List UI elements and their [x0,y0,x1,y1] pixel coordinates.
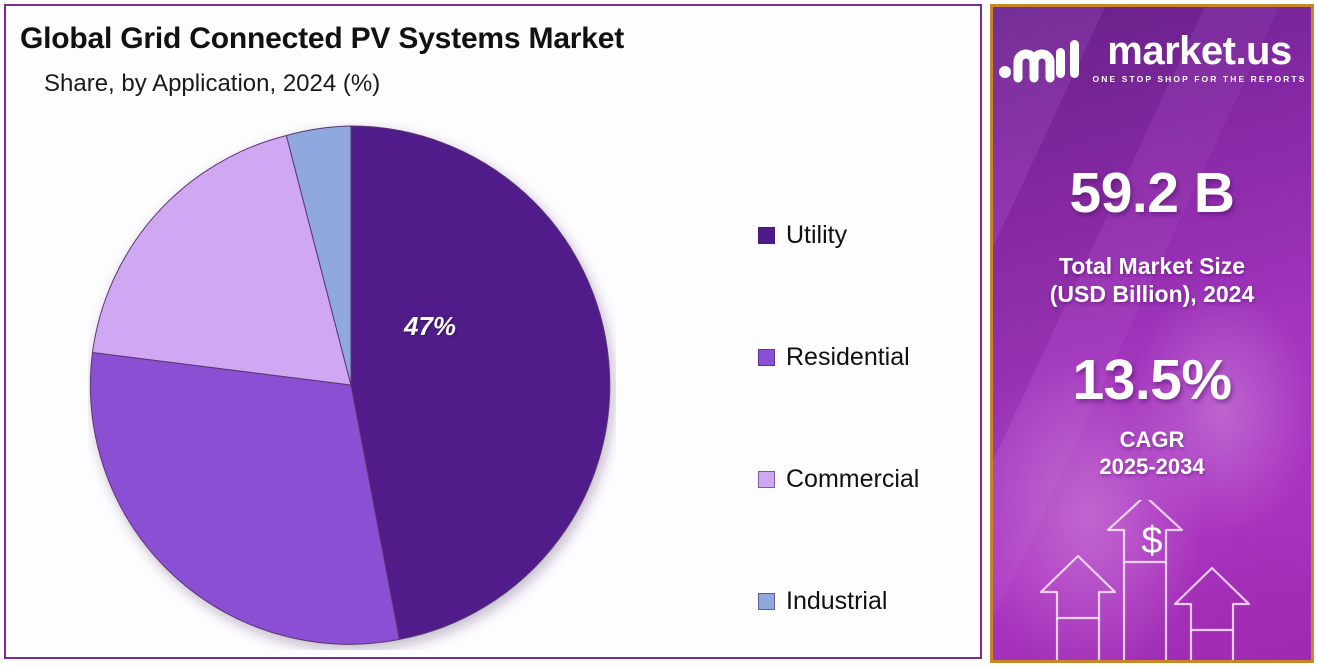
chart-legend: Utility Residential Commercial Industria… [758,174,968,662]
pie-slices-group [90,126,609,644]
legend-swatch-commercial [758,471,775,488]
chart-infographic-page: Global Grid Connected PV Systems Market … [0,0,1318,667]
logo-tagline: ONE STOP SHOP FOR THE REPORTS [1093,74,1307,84]
legend-item-residential[interactable]: Residential [758,296,968,418]
growth-arrows-icon [993,500,1311,660]
pie-chart-svg [88,122,616,650]
cagr-caption: CAGR 2025-2034 [993,427,1311,481]
pie-chart [88,122,616,650]
pie-slice-label-utility: 47% [404,311,456,342]
cagr-caption-line2: 2025-2034 [993,454,1311,481]
market-size-caption-line2: (USD Billion), 2024 [993,280,1311,308]
legend-swatch-utility [758,227,775,244]
market-size-caption-line1: Total Market Size [993,252,1311,280]
page-title: Global Grid Connected PV Systems Market [20,22,624,56]
chart-panel: Global Grid Connected PV Systems Market … [4,4,982,659]
brand-logo[interactable]: market.us ONE STOP SHOP FOR THE REPORTS [993,31,1311,84]
legend-item-commercial[interactable]: Commercial [758,418,968,540]
legend-swatch-industrial [758,593,775,610]
market-size-value: 59.2 B [993,165,1311,222]
legend-label-industrial: Industrial [786,587,887,616]
cagr-caption-line1: CAGR [993,427,1311,454]
pie-slice-utility[interactable] [351,126,610,639]
logo-text-block: market.us ONE STOP SHOP FOR THE REPORTS [1093,31,1307,84]
legend-label-commercial: Commercial [786,465,919,494]
legend-item-utility[interactable]: Utility [758,174,968,296]
legend-label-utility: Utility [786,221,847,250]
pie-slice-residential[interactable] [90,353,399,645]
market-us-logo-icon [998,32,1082,84]
logo-wordmark: market.us [1107,31,1291,71]
legend-swatch-residential [758,349,775,366]
cagr-value: 13.5% [993,352,1311,409]
legend-label-residential: Residential [786,343,910,372]
chart-subtitle: Share, by Application, 2024 (%) [44,70,380,98]
stat-panel: market.us ONE STOP SHOP FOR THE REPORTS … [990,4,1314,663]
market-size-caption: Total Market Size (USD Billion), 2024 [993,252,1311,308]
legend-item-industrial[interactable]: Industrial [758,540,968,662]
